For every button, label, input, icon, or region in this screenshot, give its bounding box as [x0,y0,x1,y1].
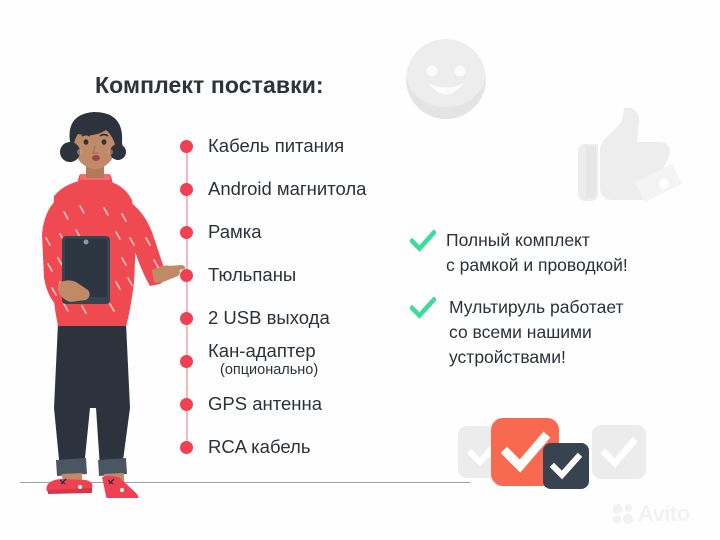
avito-watermark-text: Avito [638,503,690,525]
promo-image: Комплект поставки: Кабель питания Androi… [0,0,720,540]
feature-text: Полный комплект с рамкой и проводкой! [446,228,710,278]
avito-watermark: Avito [612,500,712,528]
list-item-sublabel: (опционально) [220,361,318,380]
included-items-list: Кабель питания Android магнитола Рамка Т… [178,132,413,462]
list-item-label: GPS антенна [208,391,322,417]
green-check-icon [410,297,436,319]
bullet-dot-icon [180,140,193,153]
feature-item: Полный комплект с рамкой и проводкой! [410,228,710,278]
feature-highlights: Полный комплект с рамкой и проводкой! Му… [410,228,710,387]
bullet-dot-icon [180,398,193,411]
checkbox-group-icon [458,413,628,483]
page-title: Комплект поставки: [95,72,324,99]
woman-with-tablet-illustration [18,108,188,498]
checkbox-gray-right [592,425,646,479]
bullet-dot-icon [180,441,193,454]
bullet-dot-icon [180,355,193,368]
bullet-dot-icon [180,226,193,239]
list-item-label: Кабель питания [208,133,344,159]
feature-text: Мультируль работает со всеми нашими устр… [449,295,710,370]
thumbs-up-icon [576,102,684,206]
list-item-label: Рамка [208,219,262,245]
checkbox-dark [543,443,589,489]
list-item-label: Android магнитола [208,176,366,202]
avito-logo-icon [612,503,634,525]
list-item-label: 2 USB выхода [208,305,330,331]
smiley-face-icon [405,38,487,120]
list-item-label: Тюльпаны [208,262,296,288]
bullet-dot-icon [180,312,193,325]
bullet-dot-icon [180,269,193,282]
list-item-label: RCA кабель [208,434,310,460]
bullet-dot-icon [180,183,193,196]
feature-item: Мультируль работает со всеми нашими устр… [410,295,710,370]
green-check-icon [410,230,436,252]
